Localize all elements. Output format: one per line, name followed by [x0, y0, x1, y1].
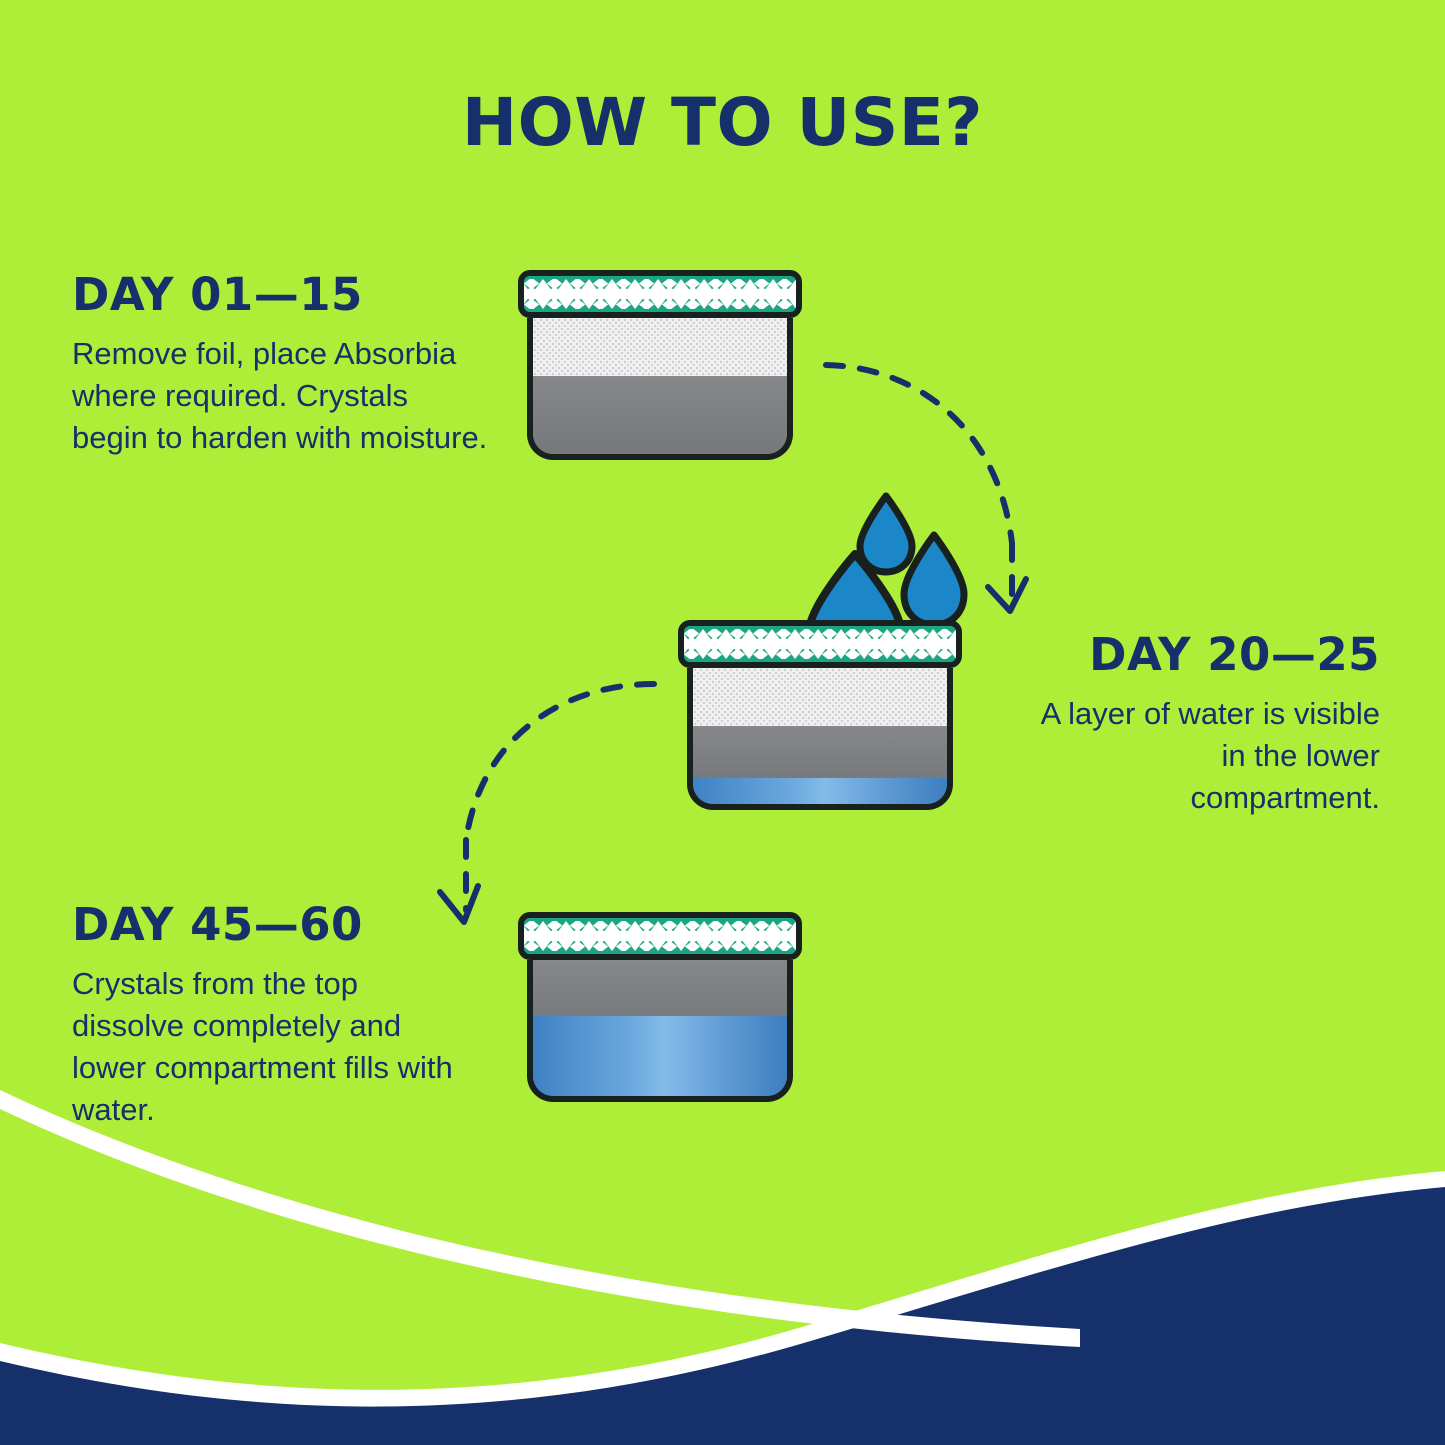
jar-lid-day-01-15 [518, 270, 802, 318]
gray-layer-day-20-25 [693, 726, 947, 784]
step-block-day-01-15: DAY 01—15 Remove foil, place Absorbia wh… [72, 268, 492, 459]
container-day-45-60 [518, 912, 802, 1102]
lid-lattice-pattern-icon [520, 276, 800, 312]
lid-lattice-pattern-icon [680, 626, 960, 662]
navy-wave-shape [0, 1185, 1445, 1445]
gray-layer-day-45-60 [533, 960, 787, 1022]
jar-body-day-01-15 [527, 318, 793, 460]
water-layer-day-20-25 [693, 778, 947, 804]
gray-layer-day-01-15 [533, 376, 787, 454]
jar-body-day-45-60 [527, 960, 793, 1102]
crystal-layer-day-20-25 [693, 668, 947, 726]
bottom-wave-decoration [0, 1085, 1445, 1445]
container-day-01-15 [518, 270, 802, 460]
crystal-layer-day-01-15 [533, 318, 787, 376]
step-block-day-20-25: DAY 20—25 A layer of water is visible in… [1040, 628, 1380, 819]
step-body-day-20-25: A layer of water is visible in the lower… [1040, 693, 1380, 819]
step-heading-day-45-60: DAY 45—60 [72, 898, 472, 951]
lid-lattice-pattern-icon [520, 918, 800, 954]
infographic-page: HOW TO USE? DAY 01—15 Remove foil, place… [0, 0, 1445, 1445]
step-body-day-01-15: Remove foil, place Absorbia where requir… [72, 333, 492, 459]
jar-lid-day-20-25 [678, 620, 962, 668]
page-title: HOW TO USE? [0, 84, 1445, 161]
water-layer-day-45-60 [533, 1016, 787, 1096]
jar-body-day-20-25 [687, 668, 953, 810]
step-heading-day-01-15: DAY 01—15 [72, 268, 492, 321]
step-heading-day-20-25: DAY 20—25 [1040, 628, 1380, 681]
arrow-step2-to-step3 [420, 672, 660, 942]
jar-lid-day-45-60 [518, 912, 802, 960]
container-day-20-25 [678, 620, 962, 810]
